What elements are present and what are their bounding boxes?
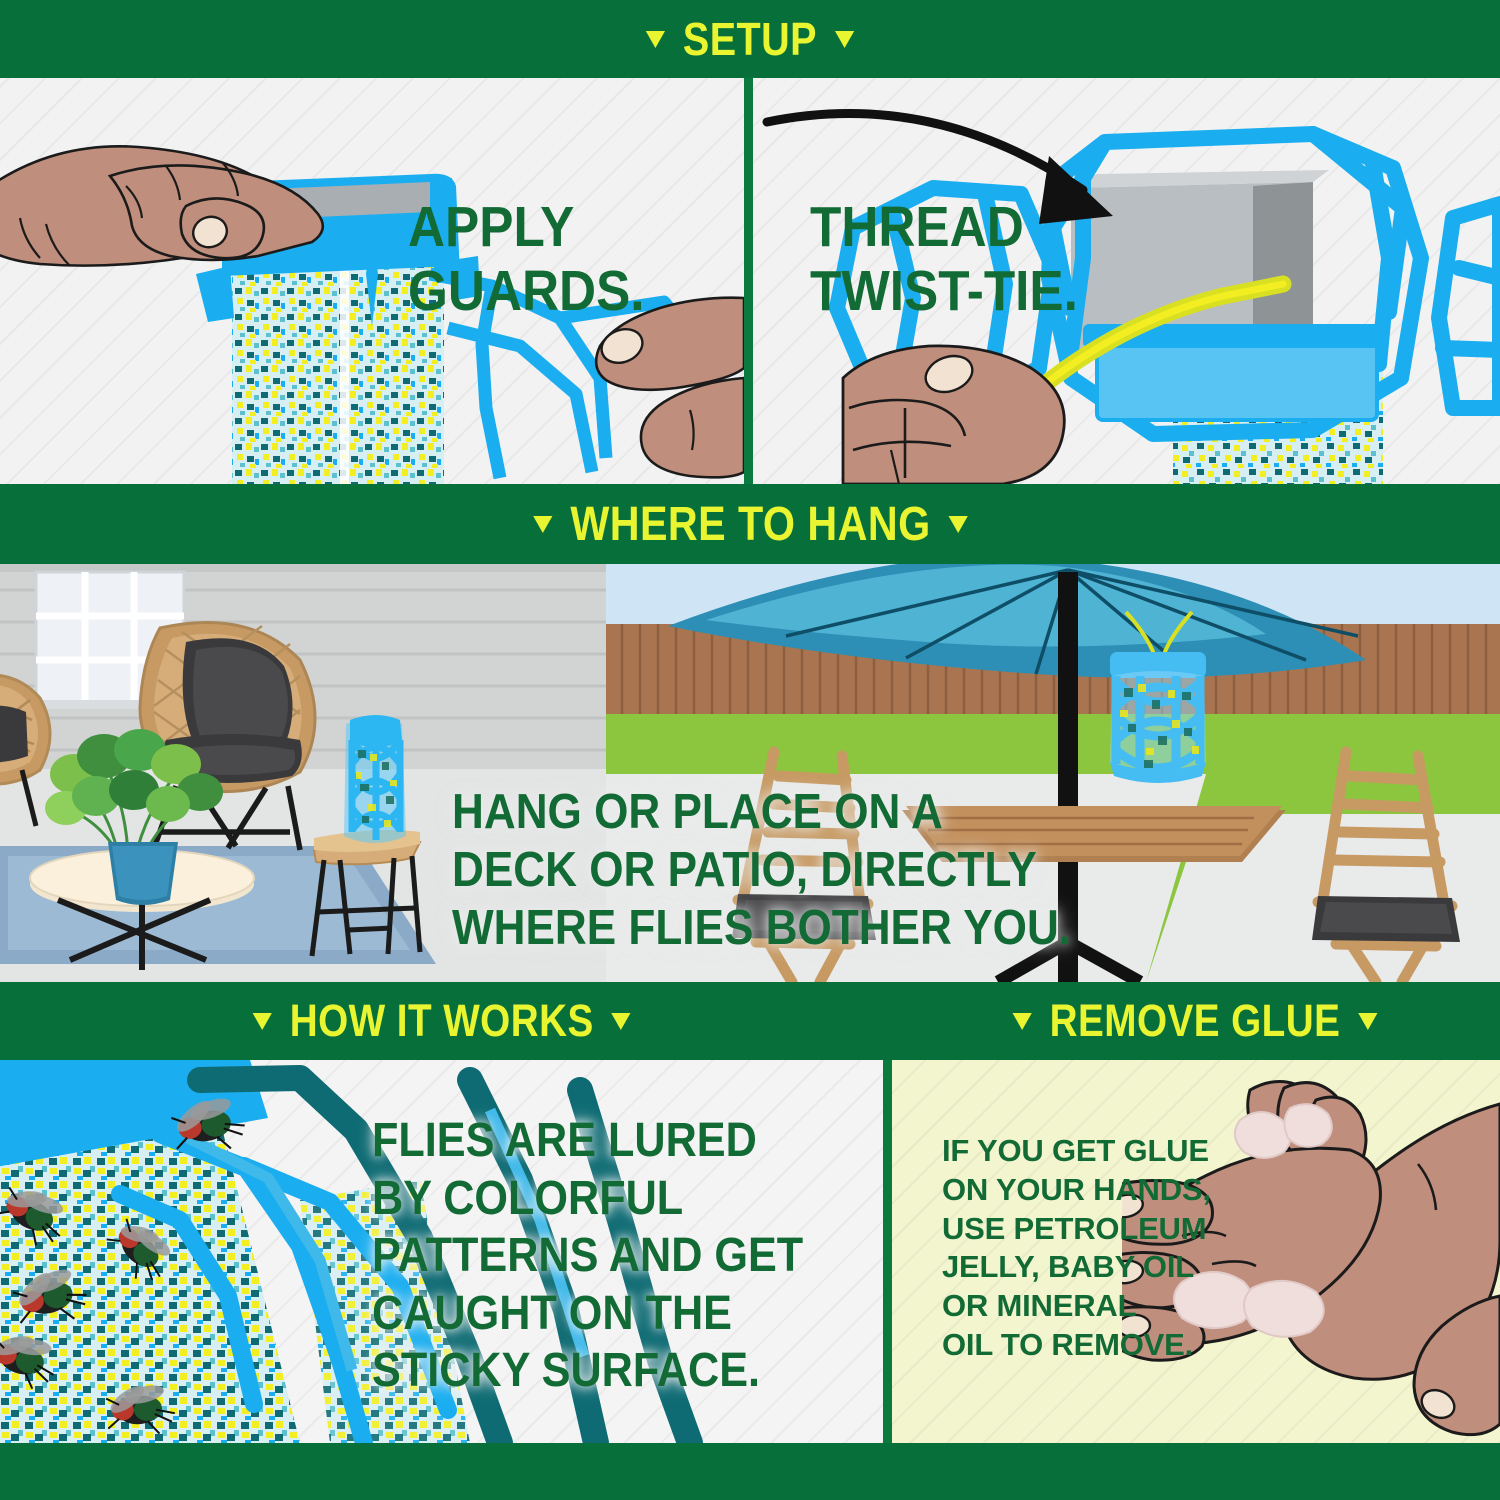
band-where-to-hang: WHERE TO HANG bbox=[0, 484, 1500, 564]
panel-how-it-works: FLIES ARE LURED BY COLORFUL PATTERNS AND… bbox=[0, 1060, 883, 1443]
caption-how-it-works: FLIES ARE LURED BY COLORFUL PATTERNS AND… bbox=[372, 1112, 803, 1400]
caption-remove-glue: IF YOU GET GLUE ON YOUR HANDS, USE PETRO… bbox=[942, 1132, 1211, 1365]
panel-where-to-hang: HANG OR PLACE ON A DECK OR PATIO, DIRECT… bbox=[0, 564, 1500, 982]
band-how-it-works: HOW IT WORKS bbox=[0, 982, 883, 1060]
band-remove-glue: REMOVE GLUE bbox=[891, 982, 1500, 1060]
caption-where-to-hang: HANG OR PLACE ON A DECK OR PATIO, DIRECT… bbox=[452, 784, 1071, 957]
band-how-it-works-label: HOW IT WORKS bbox=[290, 995, 594, 1047]
band-bottom-row: HOW IT WORKS REMOVE GLUE bbox=[0, 982, 1500, 1060]
caret-down-icon bbox=[252, 1013, 271, 1030]
band-setup-title-group: SETUP bbox=[643, 12, 856, 66]
hand-holding-twist-tie bbox=[843, 346, 1064, 484]
hand-right bbox=[596, 298, 744, 478]
caption-thread-twist-tie: THREAD TWIST-TIE. bbox=[810, 196, 1078, 324]
band-how-it-works-title-group: HOW IT WORKS bbox=[250, 995, 633, 1047]
band-where-to-hang-title-group: WHERE TO HANG bbox=[530, 497, 969, 552]
caret-down-icon bbox=[533, 516, 552, 533]
band-remove-glue-title-group: REMOVE GLUE bbox=[1011, 995, 1381, 1047]
caption-apply-guards: APPLY GUARDS. bbox=[408, 196, 645, 324]
panel-apply-guards: APPLY GUARDS. bbox=[0, 78, 744, 484]
fly-trap-on-table bbox=[344, 715, 406, 843]
band-where-to-hang-label: WHERE TO HANG bbox=[570, 497, 930, 552]
caret-down-icon bbox=[646, 31, 665, 48]
divider-bottom-panels bbox=[883, 1060, 892, 1443]
caret-down-icon bbox=[1013, 1013, 1032, 1030]
caret-down-icon bbox=[835, 31, 854, 48]
band-setup-label: SETUP bbox=[683, 12, 817, 66]
caret-down-icon bbox=[611, 1013, 630, 1030]
caret-down-icon bbox=[1359, 1013, 1378, 1030]
band-setup: SETUP bbox=[0, 0, 1500, 78]
hand-top bbox=[0, 146, 323, 266]
bottom-green-bar bbox=[0, 1443, 1500, 1500]
panel-remove-glue: IF YOU GET GLUE ON YOUR HANDS, USE PETRO… bbox=[892, 1060, 1500, 1443]
divider-top-panels bbox=[744, 78, 753, 484]
band-remove-glue-label: REMOVE GLUE bbox=[1050, 995, 1341, 1047]
caret-down-icon bbox=[948, 516, 967, 533]
panel-thread-twist-tie: THREAD TWIST-TIE. bbox=[753, 78, 1500, 484]
